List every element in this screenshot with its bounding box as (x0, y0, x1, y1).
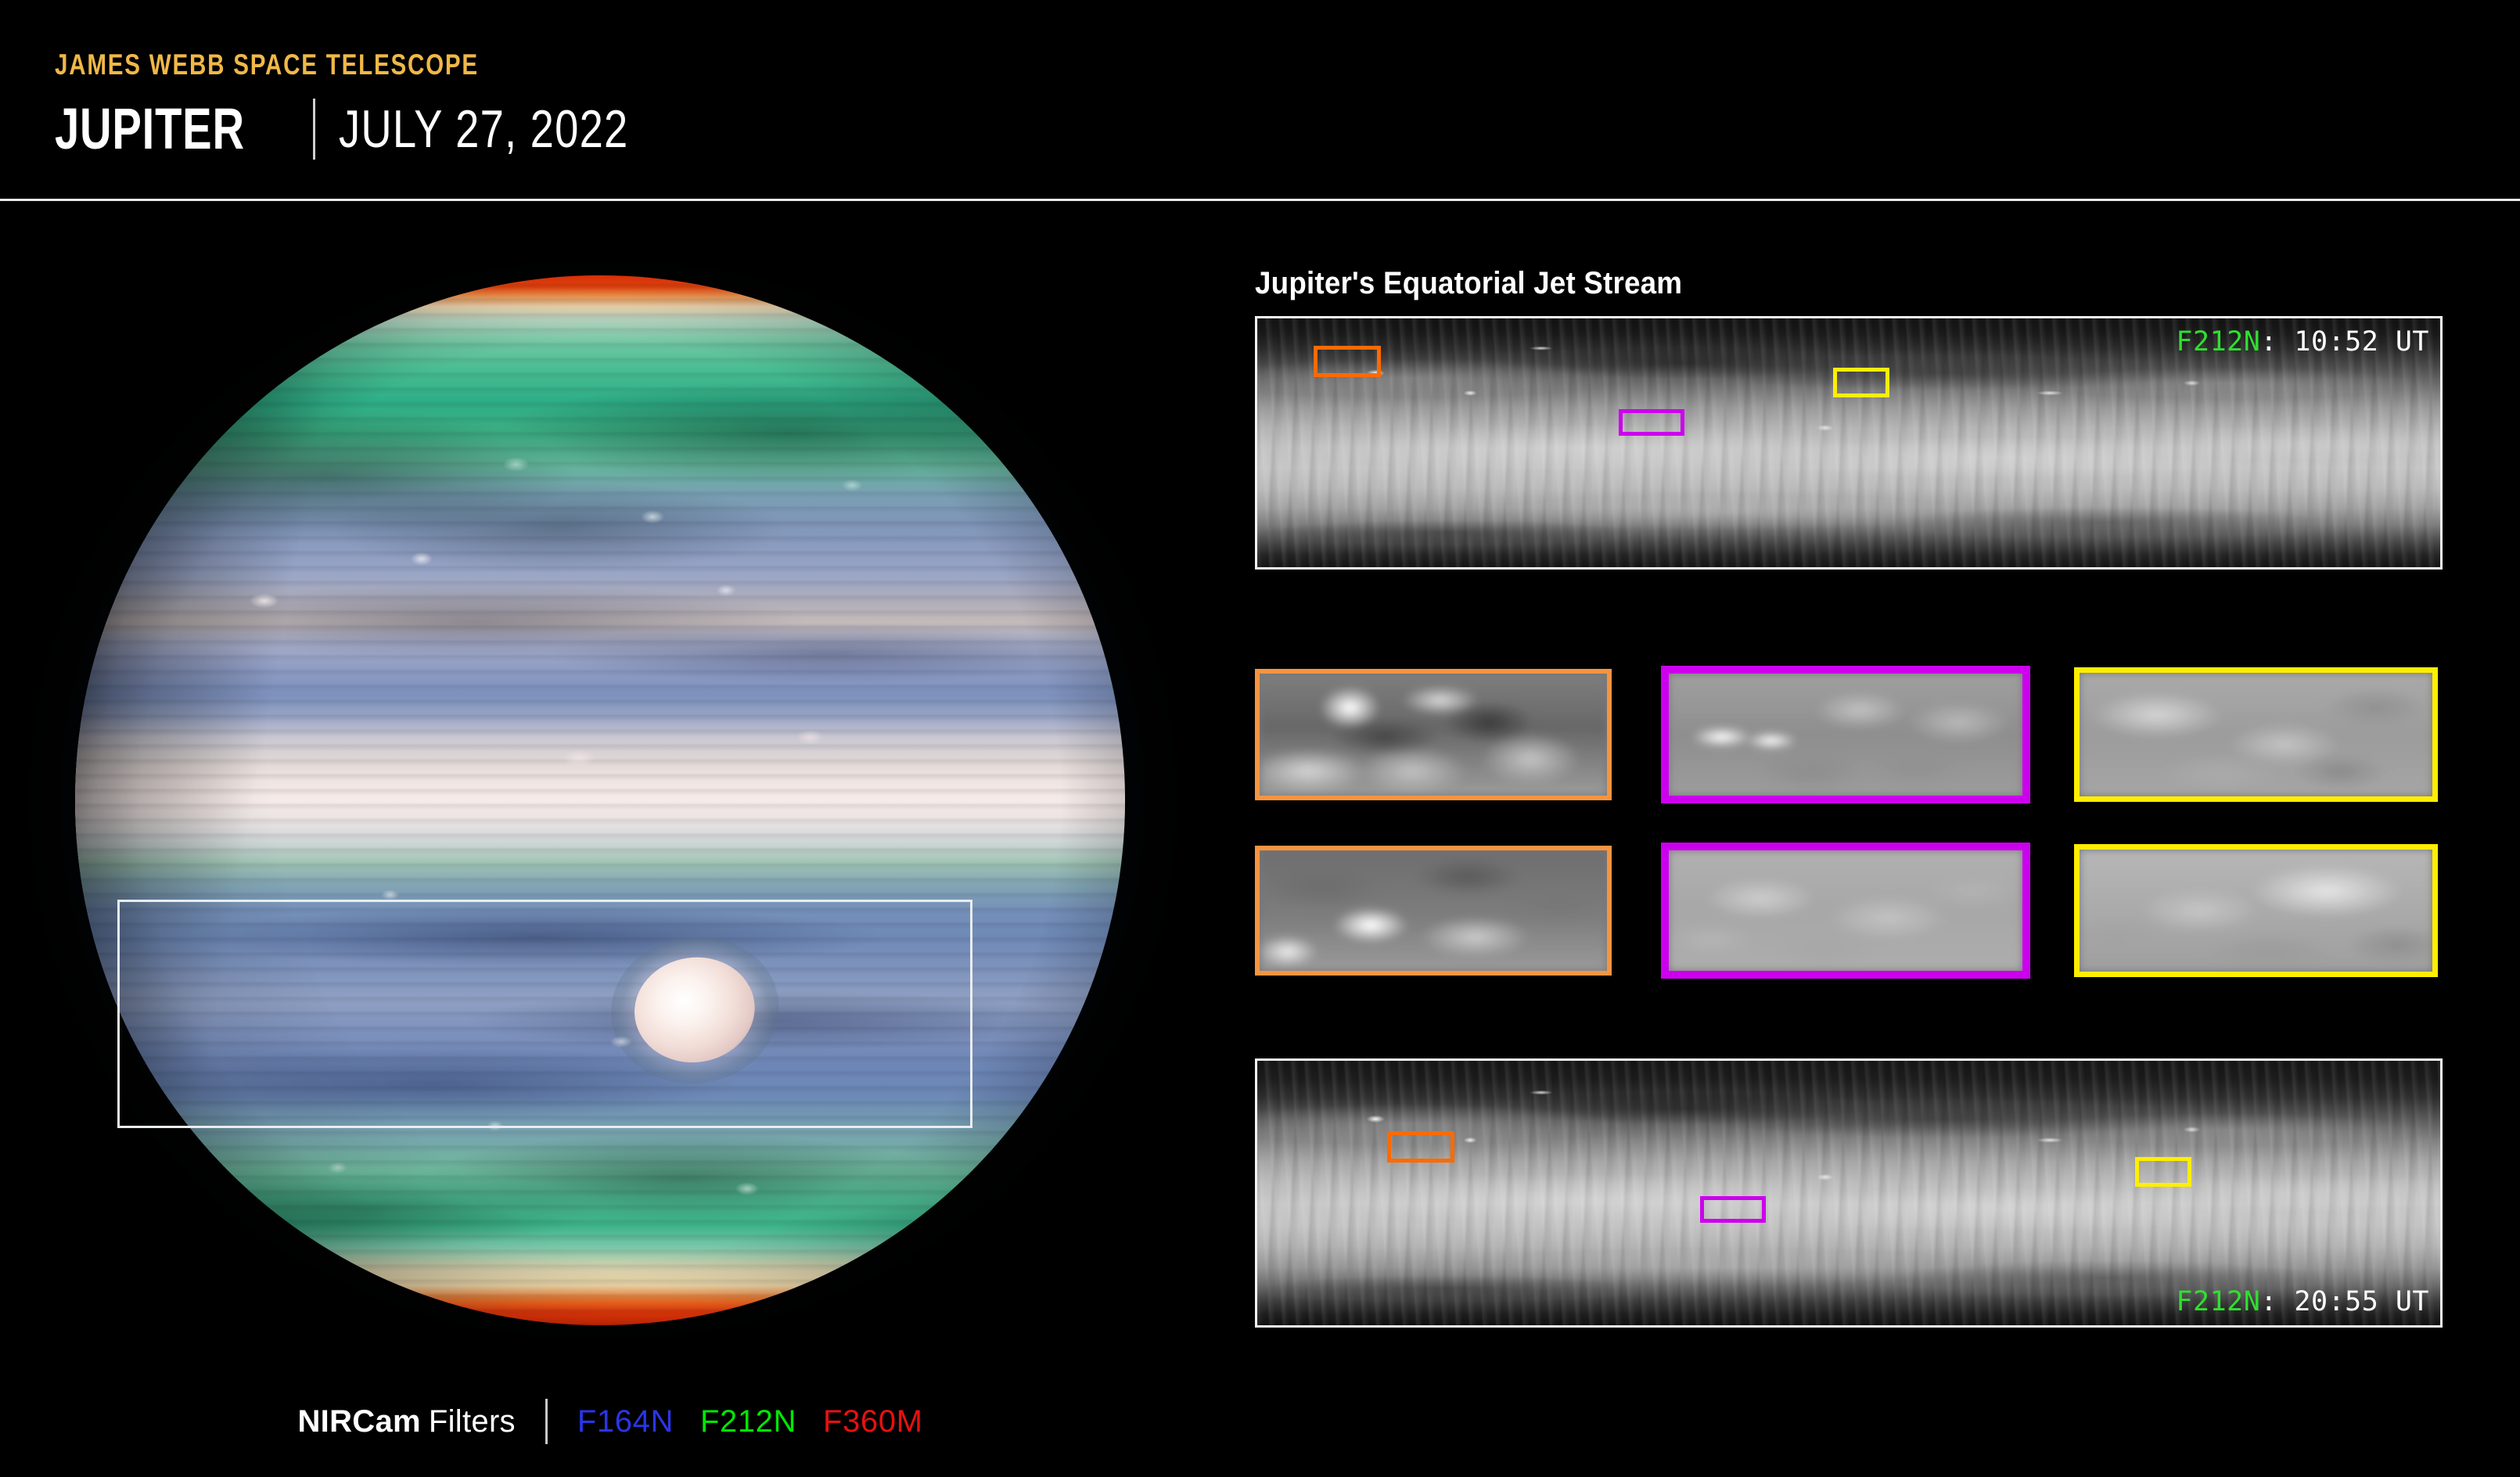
thumb-yellow-row1-image (2080, 673, 2432, 796)
jet-stream-title: Jupiter's Equatorial Jet Stream (1255, 266, 1682, 301)
filter-chip-f164n: F164N (577, 1404, 674, 1439)
strip-top-filter-name: F212N (2176, 326, 2260, 358)
strip-bottom-filter-name: F212N (2176, 1286, 2260, 1317)
jet-strip-top: F212N: 10:52 UT (1255, 316, 2443, 570)
roi-yellow-bottom (2135, 1157, 2191, 1187)
infographic-root: JAMES WEBB SPACE TELESCOPE JUPITER JULY … (0, 0, 2520, 1477)
filters-label: Filters (429, 1404, 516, 1439)
thumb-orange-row1 (1255, 669, 1612, 800)
roi-yellow-top (1833, 368, 1889, 397)
thumb-magenta-row2-image (1669, 850, 2022, 971)
strip-top-time: : 10:52 UT (2260, 326, 2429, 358)
filter-chip-f212n: F212N (700, 1404, 796, 1439)
thumb-magenta-row2 (1661, 843, 2030, 979)
thumb-orange-row1-image (1260, 674, 1607, 796)
roi-magenta-bottom (1700, 1196, 1766, 1223)
title-row: JUPITER JULY 27, 2022 (55, 94, 701, 164)
thumb-orange-row2 (1255, 846, 1612, 976)
filter-legend: NIRCam Filters F164N F212N F360M (0, 1378, 1220, 1464)
jupiter-full-disk-image (0, 205, 1220, 1378)
observation-date: JULY 27, 2022 (339, 102, 628, 156)
mission-name: JAMES WEBB SPACE TELESCOPE (55, 49, 479, 81)
jupiter-disk (75, 275, 1125, 1325)
thumb-yellow-row2 (2074, 844, 2438, 977)
thumb-yellow-row2-image (2080, 850, 2432, 972)
header: JAMES WEBB SPACE TELESCOPE JUPITER JULY … (0, 0, 2520, 200)
thumb-magenta-row1 (1661, 666, 2030, 803)
strip-top-filter-label: F212N: 10:52 UT (2176, 326, 2429, 358)
roi-magenta-top (1619, 409, 1684, 436)
jet-stream-section: Jupiter's Equatorial Jet Stream F212N: 1… (1255, 266, 2443, 1338)
thumb-magenta-row1-image (1669, 674, 2022, 796)
strip-bottom-filter-label: F212N: 20:55 UT (2176, 1286, 2429, 1317)
jet-strip-bottom: F212N: 20:55 UT (1255, 1058, 2443, 1328)
roi-orange-top (1314, 346, 1381, 377)
instrument-name: NIRCam (297, 1404, 420, 1439)
strip-bottom-time: : 20:55 UT (2260, 1286, 2429, 1317)
page-title: JUPITER (55, 100, 245, 158)
limb-darkening (75, 275, 1125, 1325)
thumb-orange-row2-image (1260, 850, 1607, 971)
header-divider-rule (0, 199, 2520, 201)
filter-chip-f360m: F360M (823, 1404, 923, 1439)
title-divider (313, 99, 315, 160)
legend-divider (545, 1399, 548, 1444)
thumb-yellow-row1 (2074, 667, 2438, 802)
roi-orange-bottom (1387, 1131, 1454, 1163)
